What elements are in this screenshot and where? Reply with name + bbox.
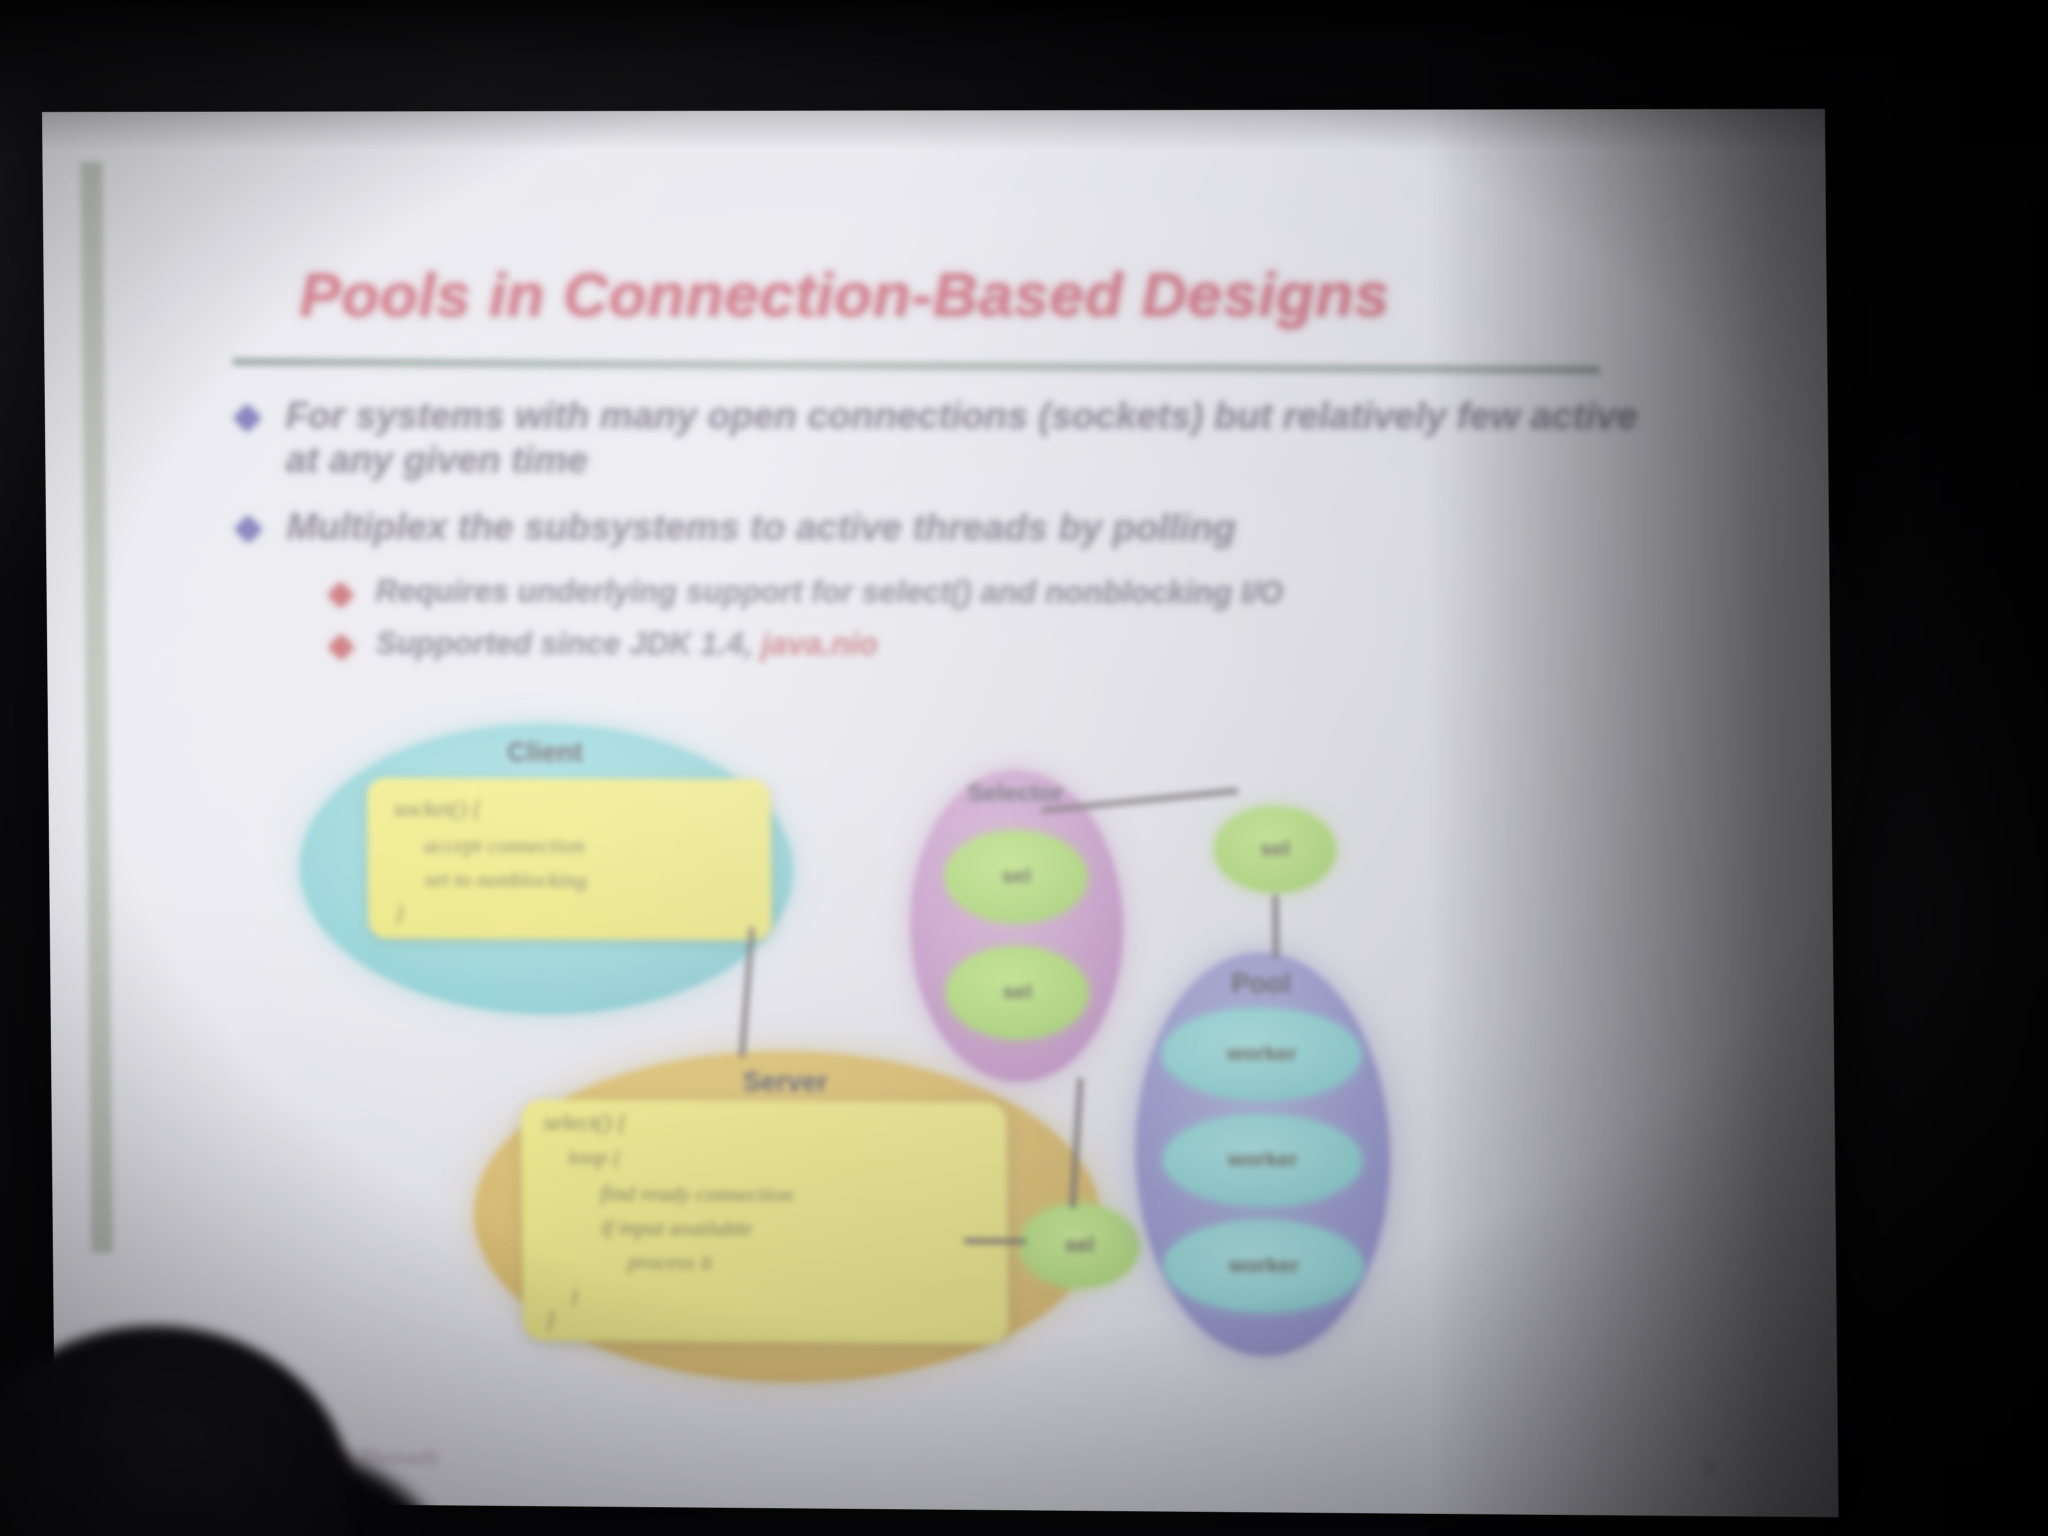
client-note-line-1: socket() { xyxy=(393,796,481,822)
photo-of-projected-slide: Pools in Connection-Based Designs For sy… xyxy=(0,0,2048,1536)
selector-node-1: sel xyxy=(945,830,1088,923)
client-note-line-2: accept connection xyxy=(424,832,585,859)
selector-node-label: sel xyxy=(946,980,1088,1005)
selector-node-2: sel xyxy=(946,946,1089,1039)
selector-node-label: sel xyxy=(1214,837,1336,862)
selector-node-3: sel xyxy=(1213,806,1336,893)
pool-group-label: Pool xyxy=(1134,968,1389,1000)
client-group-label: Client xyxy=(298,737,792,770)
server-note-line-6: } xyxy=(569,1283,578,1309)
server-code-note: select() { loop { find ready connection … xyxy=(521,1100,1008,1344)
client-note-line-3: set to nonblocking xyxy=(424,866,587,893)
server-note-line-2: loop { xyxy=(568,1144,622,1170)
pool-worker-label: worker xyxy=(1164,1253,1364,1279)
server-note-line-1: select() { xyxy=(543,1110,627,1137)
server-note-line-4: if input available xyxy=(601,1215,753,1242)
selector-node-label: sel xyxy=(945,864,1087,889)
room-shadow-top xyxy=(0,0,2048,150)
pool-worker-label: worker xyxy=(1163,1148,1363,1173)
pool-worker-1: worker xyxy=(1162,1007,1362,1101)
pool-worker-label: worker xyxy=(1162,1042,1362,1067)
client-code-note: socket() { accept connection set to nonb… xyxy=(367,778,772,940)
client-note-line-4: } xyxy=(394,900,404,926)
server-note-line-3: find ready connection xyxy=(600,1180,793,1207)
server-note-line-5: process it xyxy=(627,1249,712,1276)
connector-free-selector-to-pool xyxy=(1272,895,1279,958)
selector-node-label: sel xyxy=(1020,1233,1140,1258)
selector-node-4: sel xyxy=(1019,1203,1140,1288)
connector-server-note-to-selector xyxy=(964,1238,1027,1244)
server-note-line-7: } xyxy=(545,1307,555,1333)
room-shadow-right xyxy=(1428,0,2048,1536)
